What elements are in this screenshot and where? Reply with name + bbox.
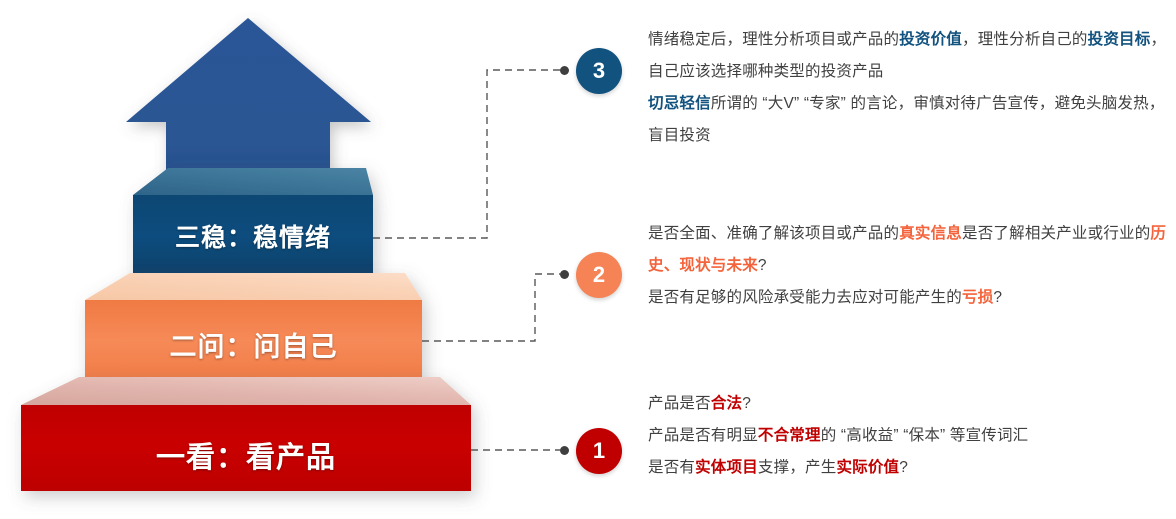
step-number-badge-2[interactable]: 2 [576,252,622,298]
pyramid-step-3[interactable] [133,168,373,277]
text-run: ? [758,257,767,274]
highlight-run: 真实信息 [899,225,962,242]
text-run: 支撑，产生 [758,459,837,476]
text-run: 产品是否有明显 [648,427,758,444]
description-line: 是否全面、准确了解该项目或产品的真实信息是否了解相关产业或行业的历史、现状与未来… [648,218,1168,282]
text-run: 产品是否 [648,395,711,412]
connector-endpoint-dot-1 [560,446,569,455]
step-number-badge-1[interactable]: 1 [576,428,622,474]
pyramid-graphic: 三稳：稳情绪 二问：问自己 一看：看产品 [0,0,520,519]
highlight-run: 实体项目 [695,459,758,476]
text-run: 的 “高收益” “保本” 等宣传词汇 [821,427,1029,444]
highlight-run: 实际价值 [836,459,899,476]
text-run: ，理性分析自己的 [962,31,1088,48]
description-line: 情绪稳定后，理性分析项目或产品的投资价值，理性分析自己的投资目标，自己应该选择哪… [648,24,1168,88]
text-run: 是否有 [648,459,695,476]
description-line: 产品是否有明显不合常理的 “高收益” “保本” 等宣传词汇 [648,420,1168,452]
text-run: 是否了解相关产业或行业的 [962,225,1150,242]
infographic-canvas: 三稳：稳情绪 二问：问自己 一看：看产品 3 2 1 情绪稳定后，理性分析项目或… [0,0,1176,519]
description-block-3: 情绪稳定后，理性分析项目或产品的投资价值，理性分析自己的投资目标，自己应该选择哪… [648,24,1168,152]
description-line: 产品是否合法? [648,388,1168,420]
pyramid-step-1[interactable] [21,377,471,491]
description-block-2: 是否全面、准确了解该项目或产品的真实信息是否了解相关产业或行业的历史、现状与未来… [648,218,1168,314]
description-line: 切忌轻信所谓的 “大V” “专家” 的言论，审慎对待广告宣传，避免头脑发热，盲目… [648,88,1168,152]
description-line: 是否有足够的风险承受能力去应对可能产生的亏损? [648,282,1168,314]
connector-endpoint-dot-2 [560,270,569,279]
highlight-run: 合法 [711,395,742,412]
highlight-run: 不合常理 [758,427,821,444]
pyramid-step-2[interactable] [85,273,422,381]
text-run: 所谓的 “大V” “专家” 的言论，审慎对待广告宣传，避免头脑发热，盲目投资 [648,95,1165,144]
connector-endpoint-dot-3 [560,66,569,75]
text-run: ? [899,459,908,476]
description-line: 是否有实体项目支撑，产生实际价值? [648,452,1168,484]
text-run: 是否全面、准确了解该项目或产品的 [648,225,899,242]
step-number-badge-3[interactable]: 3 [576,48,622,94]
highlight-run: 切忌轻信 [648,95,711,112]
highlight-run: 亏损 [962,289,993,306]
pyramid-svg [0,0,520,519]
text-run: 是否有足够的风险承受能力去应对可能产生的 [648,289,962,306]
highlight-run: 投资目标 [1088,31,1151,48]
description-block-1: 产品是否合法?产品是否有明显不合常理的 “高收益” “保本” 等宣传词汇是否有实… [648,388,1168,484]
text-run: ? [993,289,1002,306]
text-run: 情绪稳定后，理性分析项目或产品的 [648,31,899,48]
highlight-run: 投资价值 [899,31,962,48]
text-run: ? [742,395,751,412]
